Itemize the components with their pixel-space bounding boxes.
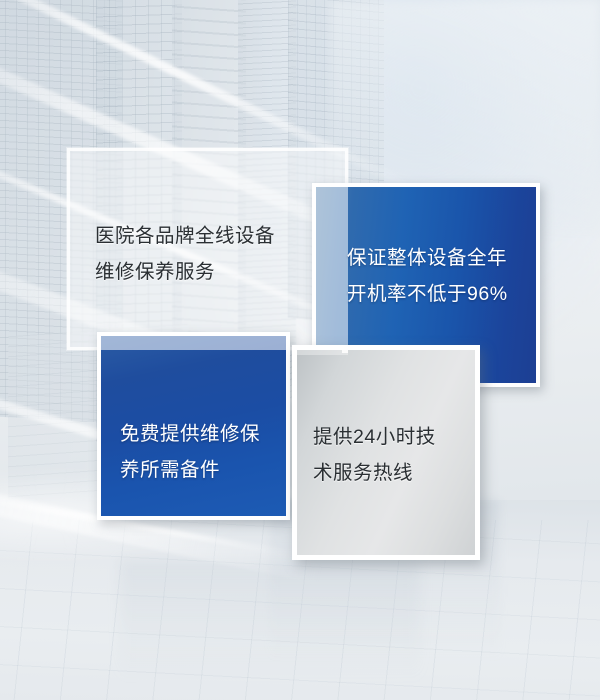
promo-graphic: 医院各品牌全线设备 维修保养服务 保证整体设备全年 开机率不低于96% 免费提供…: [0, 0, 600, 700]
card-hotline-24h-text: 提供24小时技 术服务热线: [313, 419, 483, 491]
plaza-reflection-2: [120, 560, 420, 680]
card-free-spare-parts-text: 免费提供维修保 养所需备件: [120, 416, 290, 488]
card-uptime-guarantee-text: 保证整体设备全年 开机率不低于96%: [347, 240, 547, 312]
card-service-scope-text: 医院各品牌全线设备 维修保养服务: [95, 218, 335, 290]
